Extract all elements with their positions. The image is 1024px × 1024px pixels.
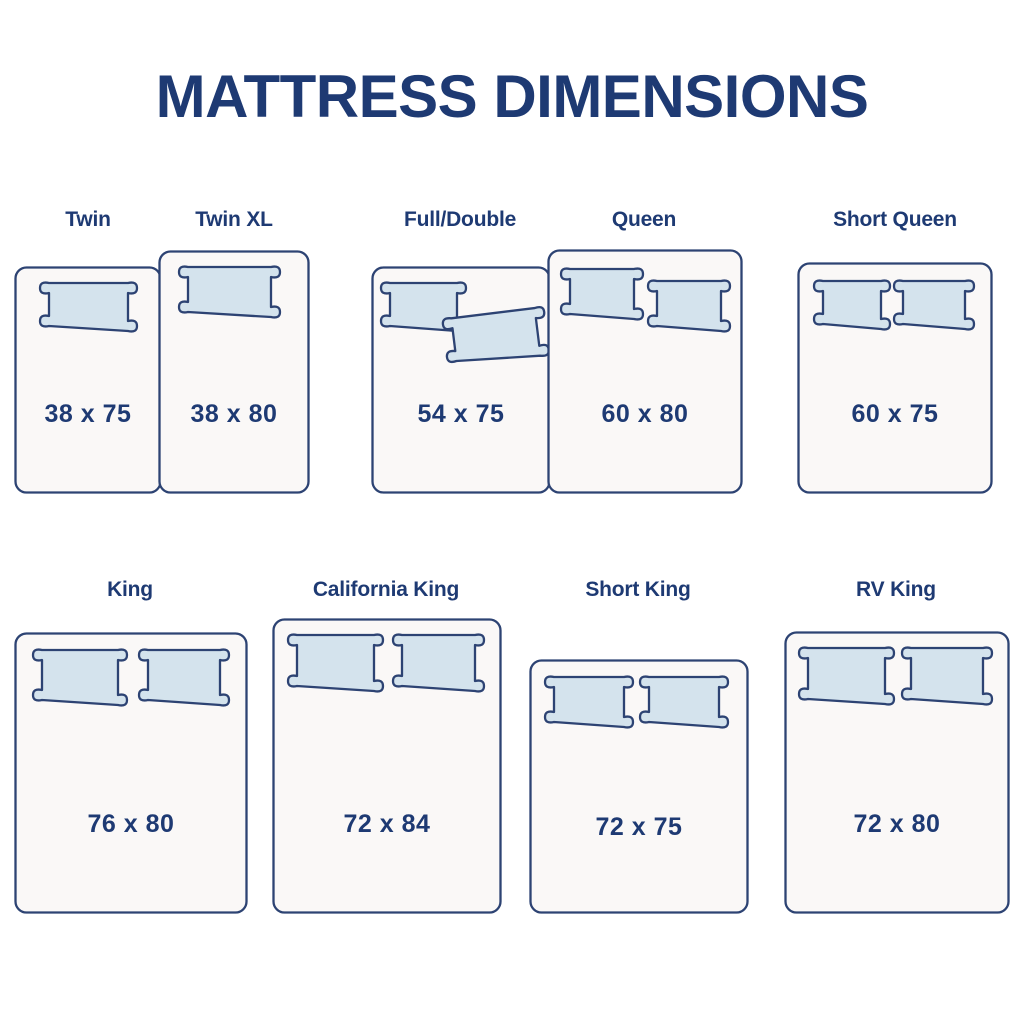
pillow-twin-1 [40, 283, 137, 332]
bed-label-rv-king: RV King [784, 578, 1008, 602]
dimension-text-full-double: 54 x 75 [418, 400, 505, 428]
bed-label-full-double: Full/Double [371, 208, 549, 232]
bed-label-queen: Queen [547, 208, 741, 232]
bed-label-twin-xl: Twin XL [160, 208, 308, 232]
pillow-queen-2 [648, 281, 730, 332]
bed-diagram-short-queen: 60 x 75 [797, 262, 993, 494]
pillow-california-king-2 [393, 635, 484, 692]
bed-label-king: King [14, 578, 246, 602]
bed-diagram-twin: 38 x 75 [14, 266, 162, 494]
dimension-text-king: 76 x 80 [88, 810, 175, 838]
bed-label-california-king: California King [272, 578, 500, 602]
bed-label-short-king: Short King [529, 578, 747, 602]
dimension-text-short-king: 72 x 75 [596, 813, 683, 841]
bed-diagram-queen: 60 x 80 [547, 249, 743, 494]
bed-diagram-rv-king: 72 x 80 [784, 631, 1010, 914]
bed-label-short-queen: Short Queen [797, 208, 993, 232]
bed-diagram-california-king: 72 x 84 [272, 618, 502, 914]
bed-label-twin: Twin [16, 208, 160, 232]
bed-diagram-twin-xl: 38 x 80 [158, 250, 310, 494]
mattress-dimensions-infographic: MATTRESS DIMENSIONS Twin 38 x 75 Twin XL… [0, 0, 1024, 1024]
pillow-rv-king-1 [799, 648, 894, 705]
pillow-king-1 [33, 650, 127, 706]
dimension-text-queen: 60 x 80 [602, 400, 689, 428]
pillow-short-king-2 [640, 677, 728, 728]
dimension-text-twin: 38 x 75 [45, 400, 132, 428]
pillow-short-queen-2 [894, 281, 974, 330]
dimension-text-rv-king: 72 x 80 [854, 810, 941, 838]
dimension-text-twin-xl: 38 x 80 [191, 400, 278, 428]
dimension-text-short-queen: 60 x 75 [852, 400, 939, 428]
pillow-queen-1 [561, 269, 643, 320]
bed-diagram-king: 76 x 80 [14, 632, 248, 914]
dimension-text-california-king: 72 x 84 [344, 810, 431, 838]
page-title: MATTRESS DIMENSIONS [0, 62, 1024, 131]
pillow-short-queen-1 [814, 281, 890, 330]
pillow-king-2 [139, 650, 229, 706]
bed-diagram-full-double: 54 x 75 [371, 266, 551, 494]
pillow-short-king-1 [545, 677, 633, 728]
pillow-rv-king-2 [902, 648, 992, 705]
bed-diagram-short-king: 72 x 75 [529, 659, 749, 914]
pillow-twin-xl-1 [179, 267, 280, 318]
pillow-california-king-1 [288, 635, 383, 692]
